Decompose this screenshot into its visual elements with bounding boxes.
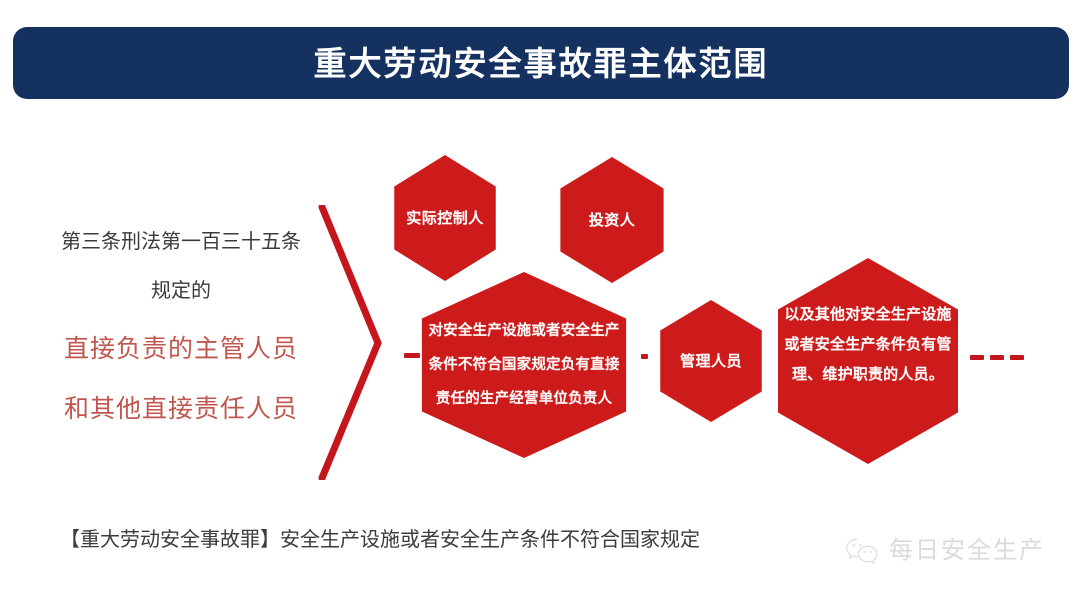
connector-dash-left [404,353,420,358]
left-text-line-2: 规定的 [36,281,326,302]
slide-canvas: 重大劳动安全事故罪主体范围 第三条刑法第一百三十五条 规定的 直接负责的主管人员… [0,0,1080,608]
bottom-caption: 【重大劳动安全事故罪】安全生产设施或者安全生产条件不符合国家规定 [60,528,700,552]
chevron-right-icon [316,205,384,480]
left-text-line-4-highlight: 和其他直接责任人员 [36,396,326,422]
left-text-block: 第三条刑法第一百三十五条 规定的 直接负责的主管人员 和其他直接责任人员 [36,232,326,423]
connector-dash-right-3 [1010,355,1024,360]
connector-dash-middle [641,354,648,359]
watermark: 每日安全生产 [845,537,1045,565]
page-title: 重大劳动安全事故罪主体范围 [314,47,769,80]
hexagon-production-unit-principal-label: 对安全生产设施或者安全生产条件不符合国家规定负有直接责任的生产经营单位负责人 [426,314,622,416]
hexagon-actual-controller-label: 实际控制人 [406,211,484,226]
watermark-label: 每日安全生产 [889,539,1045,563]
hexagon-production-unit-principal: 对安全生产设施或者安全生产条件不符合国家规定负有直接责任的生产经营单位负责人 [413,272,635,458]
wechat-icon [845,537,879,565]
page-title-banner: 重大劳动安全事故罪主体范围 [13,27,1069,99]
hexagon-management-personnel-label: 管理人员 [680,354,742,369]
hexagon-investor-label: 投资人 [589,213,636,228]
connector-dash-right-1 [970,355,984,360]
hexagon-management-personnel: 管理人员 [652,300,770,422]
hexagon-actual-controller: 实际控制人 [386,155,504,281]
left-text-line-1: 第三条刑法第一百三十五条 [36,232,326,253]
connector-dash-right-2 [990,355,1004,360]
left-text-line-3-highlight: 直接负责的主管人员 [36,336,326,362]
hexagon-other-duty-personnel: 以及其他对安全生产设施或者安全生产条件负有管理、维护职责的人员。 [768,258,968,464]
hexagon-investor: 投资人 [552,157,672,283]
hexagon-other-duty-personnel-label: 以及其他对安全生产设施或者安全生产条件负有管理、维护职责的人员。 [779,300,957,390]
